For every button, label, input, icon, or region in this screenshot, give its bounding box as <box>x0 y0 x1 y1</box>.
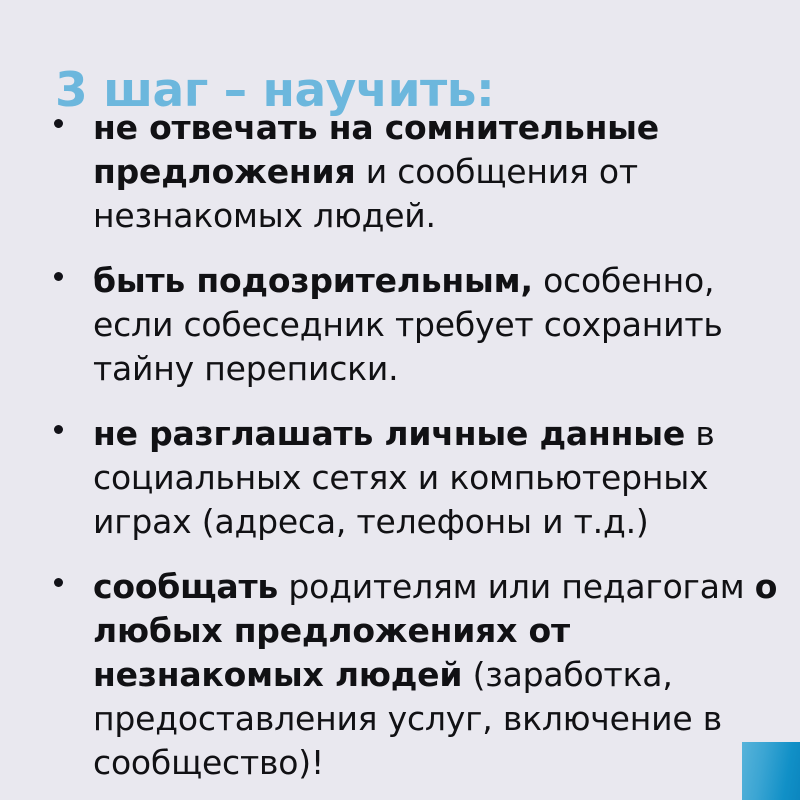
bullet-dot-icon <box>54 425 63 434</box>
list-item-text: сообщать родителям или педагогам о любых… <box>93 565 780 785</box>
list-item-emphasis: не разглашать личные данные <box>93 414 685 453</box>
list-item-body: родителям или педагогам <box>278 567 755 606</box>
bullet-dot-icon <box>54 272 63 281</box>
list-item-emphasis: быть подозрительным, <box>93 261 533 300</box>
list-item-text: не разглашать личные данные в социальных… <box>93 412 780 544</box>
list-item-emphasis: сообщать <box>93 567 278 606</box>
list-item-text: быть подозрительным, особенно, если собе… <box>93 259 780 391</box>
list-item: не разглашать личные данные в социальных… <box>50 412 780 544</box>
corner-accent-square <box>742 742 800 800</box>
list-item: не отвечать на сомнительные предложения … <box>50 106 780 238</box>
list-item: быть подозрительным, особенно, если собе… <box>50 259 780 391</box>
bullet-list: не отвечать на сомнительные предложения … <box>50 106 780 785</box>
bullet-dot-icon <box>54 119 63 128</box>
bullet-dot-icon <box>54 578 63 587</box>
list-item: сообщать родителям или педагогам о любых… <box>50 565 780 785</box>
list-item-text: не отвечать на сомнительные предложения … <box>93 106 780 238</box>
slide-canvas: 3 шаг – научить: не отвечать на сомнител… <box>0 0 800 800</box>
